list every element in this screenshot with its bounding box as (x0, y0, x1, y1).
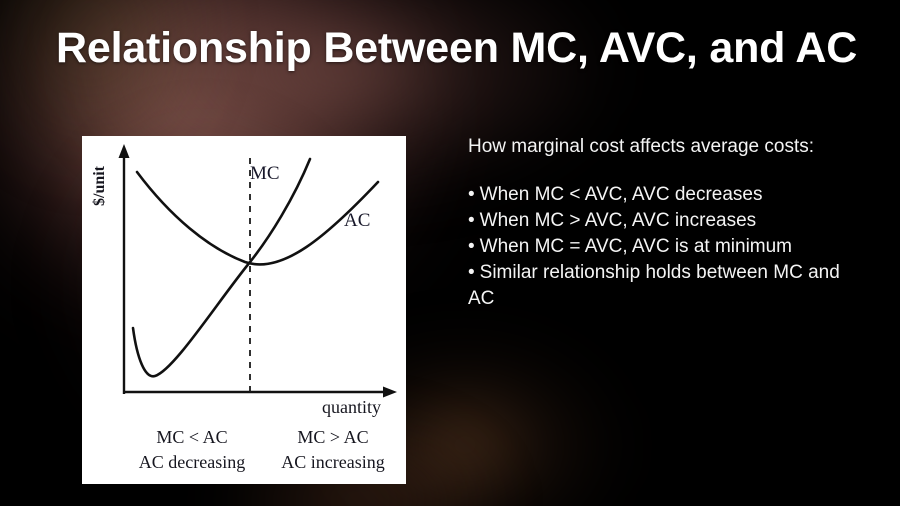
y-axis-label: $/unit (91, 165, 108, 206)
mc-curve-label: MC (250, 163, 280, 184)
bullet-marker-icon: • (468, 262, 475, 283)
list-item: •When MC = AVC, AVC is at minimum (468, 234, 868, 260)
bullet-marker-icon: • (468, 236, 475, 257)
x-axis (124, 387, 397, 398)
caption-right-line2: AC increasing (281, 452, 384, 472)
caption-left-line2: AC decreasing (139, 452, 245, 472)
list-item: •When MC > AVC, AVC increases (468, 208, 868, 234)
ac-curve-label: AC (344, 210, 370, 231)
explanation-text-column: How marginal cost affects average costs:… (468, 134, 868, 312)
caption-right: MC > AC AC increasing (281, 427, 384, 472)
caption-right-line1: MC > AC (297, 427, 368, 447)
list-item-label: When MC < AVC, AVC decreases (480, 184, 763, 205)
list-item: •Similar relationship holds between MC a… (468, 260, 868, 312)
list-item-label: When MC = AVC, AVC is at minimum (480, 236, 792, 257)
caption-left-line1: MC < AC (156, 427, 227, 447)
mc-curve (133, 159, 310, 376)
list-item: •When MC < AVC, AVC decreases (468, 182, 868, 208)
cost-curves-svg: $/unit quantity MC AC MC < AC AC decreas… (82, 136, 406, 484)
explanation-bullet-list: •When MC < AVC, AVC decreases •When MC >… (468, 182, 868, 312)
list-item-label: When MC > AVC, AVC increases (480, 210, 756, 231)
caption-left: MC < AC AC decreasing (139, 427, 245, 472)
list-item-label: Similar relationship holds between MC an… (468, 262, 840, 309)
y-axis (119, 144, 130, 394)
page-title: Relationship Between MC, AVC, and AC (56, 24, 857, 73)
slide-root: Relationship Between MC, AVC, and AC $/u… (0, 0, 900, 506)
x-axis-label: quantity (322, 397, 381, 417)
cost-curves-figure: $/unit quantity MC AC MC < AC AC decreas… (82, 136, 406, 484)
bullet-marker-icon: • (468, 210, 475, 231)
explanation-intro: How marginal cost affects average costs: (468, 134, 868, 160)
bullet-marker-icon: • (468, 184, 475, 205)
